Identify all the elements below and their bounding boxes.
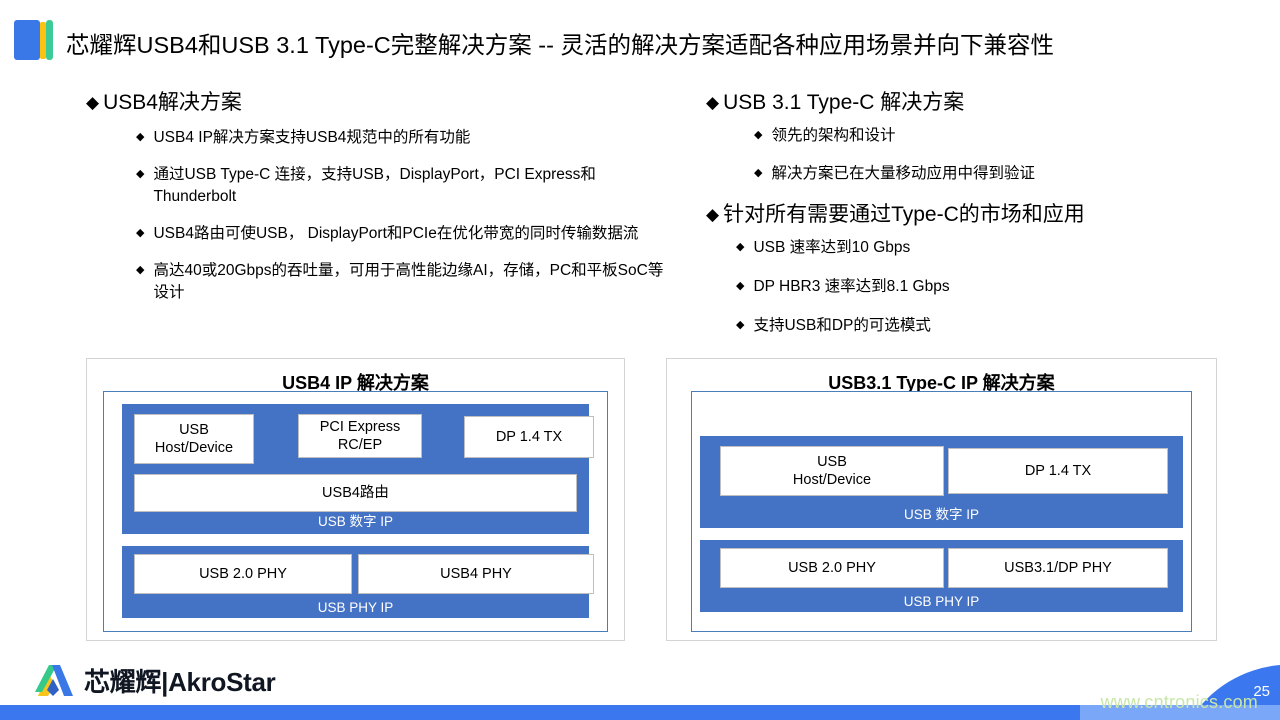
right-heading-1-label: USB 3.1 Type-C 解决方案 (723, 90, 1236, 117)
right-heading-2-label: 针对所有需要通过Type-C的市场和应用 (723, 202, 1236, 229)
diamond-bullet-icon: ◆ (706, 202, 719, 228)
right-content-column: ◆ USB 3.1 Type-C 解决方案 ◆ 领先的架构和设计 ◆ 解决方案已… (706, 90, 1236, 355)
logo-bar-blue-icon (14, 20, 40, 60)
list-item-label: 通过USB Type-C 连接，支持USB，DisplayPort，PCI Ex… (153, 164, 666, 207)
diagram-usb4: USB4 IP 解决方案 USB Host/Device PCI Express… (86, 358, 625, 641)
watermark-label: www.cntronics.com (1101, 692, 1258, 713)
slide-header: 芯耀辉USB4和USB 3.1 Type-C完整解决方案 -- 灵活的解决方案适… (0, 0, 1280, 72)
list-item-label: 高达40或20Gbps的吞吐量，可用于高性能边缘AI，存储，PC和平板SoC等设… (153, 260, 666, 303)
page-title: 芯耀辉USB4和USB 3.1 Type-C完整解决方案 -- 灵活的解决方案适… (66, 26, 1054, 60)
list-item: ◆ 支持USB和DP的可选模式 (736, 315, 1236, 336)
list-item: ◆ 通过USB Type-C 连接，支持USB，DisplayPort，PCI … (136, 164, 666, 207)
list-item-label: 解决方案已在大量移动应用中得到验证 (771, 163, 1236, 184)
diagram-usb31-typec: USB3.1 Type-C IP 解决方案 USB Host/Device DP… (666, 358, 1217, 641)
diamond-bullet-icon: ◆ (136, 223, 144, 243)
diamond-bullet-icon: ◆ (754, 125, 762, 145)
diamond-bullet-icon: ◆ (754, 163, 762, 183)
right-bullet-list-1: ◆ 领先的架构和设计 ◆ 解决方案已在大量移动应用中得到验证 (754, 125, 1236, 185)
usb4-cell-usb20phy: USB 2.0 PHY (134, 554, 352, 594)
usb31-digital-ip-label: USB 数字 IP (700, 503, 1183, 523)
list-item: ◆ 高达40或20Gbps的吞吐量，可用于高性能边缘AI，存储，PC和平板SoC… (136, 260, 666, 303)
list-item-label: USB4路由可使USB， DisplayPort和PCIe在优化带宽的同时传输数… (153, 223, 666, 244)
list-item: ◆ USB4路由可使USB， DisplayPort和PCIe在优化带宽的同时传… (136, 223, 666, 244)
usb4-digital-ip-label: USB 数字 IP (122, 510, 589, 530)
diamond-bullet-icon: ◆ (86, 90, 99, 116)
right-bullet-list-2: ◆ USB 速率达到10 Gbps ◆ DP HBR3 速率达到8.1 Gbps… (736, 237, 1236, 337)
usb4-cell-pci-express: PCI Express RC/EP (298, 414, 422, 458)
usb4-cell-usb-host-device: USB Host/Device (134, 414, 254, 464)
slide: 芯耀辉USB4和USB 3.1 Type-C完整解决方案 -- 灵活的解决方案适… (0, 0, 1280, 720)
diagram-usb31-frame: USB Host/Device DP 1.4 TX USB 数字 IP USB … (691, 391, 1192, 632)
diamond-bullet-icon: ◆ (136, 164, 144, 184)
diagram-usb4-frame: USB Host/Device PCI Express RC/EP DP 1.4… (103, 391, 608, 632)
list-item-label: 支持USB和DP的可选模式 (753, 315, 1236, 336)
usb4-cell-dp14tx: DP 1.4 TX (464, 416, 594, 458)
list-item-label: 领先的架构和设计 (771, 125, 1236, 146)
usb31-cell-dp14tx: DP 1.4 TX (948, 448, 1168, 494)
list-item: ◆ DP HBR3 速率达到8.1 Gbps (736, 276, 1236, 297)
footer-bar (0, 705, 1080, 720)
usb31-phy-ip-label: USB PHY IP (700, 594, 1183, 609)
list-item-label: USB4 IP解决方案支持USB4规范中的所有功能 (153, 127, 666, 148)
list-item: ◆ USB4 IP解决方案支持USB4规范中的所有功能 (136, 127, 666, 148)
usb4-digital-ip-group: USB Host/Device PCI Express RC/EP DP 1.4… (122, 404, 589, 534)
footer-brand-logo: 芯耀辉|AkroStar (28, 660, 328, 702)
diamond-bullet-icon: ◆ (136, 260, 144, 280)
logo-bar-green-icon (46, 20, 53, 60)
left-bullet-list: ◆ USB4 IP解决方案支持USB4规范中的所有功能 ◆ 通过USB Type… (136, 127, 666, 303)
brand-logo-icon (14, 20, 54, 60)
footer-logo-label: 芯耀辉|AkroStar (84, 662, 276, 699)
left-content-column: ◆ USB4解决方案 ◆ USB4 IP解决方案支持USB4规范中的所有功能 ◆… (86, 90, 666, 319)
list-item: ◆ 解决方案已在大量移动应用中得到验证 (754, 163, 1236, 184)
diamond-bullet-icon: ◆ (736, 237, 744, 257)
usb4-phy-ip-label: USB PHY IP (122, 600, 589, 615)
usb31-cell-usb-host-device: USB Host/Device (720, 446, 944, 496)
left-heading: ◆ USB4解决方案 (86, 90, 666, 117)
left-heading-label: USB4解决方案 (103, 90, 666, 117)
usb4-cell-usb4phy: USB4 PHY (358, 554, 594, 594)
usb31-phy-ip-group: USB 2.0 PHY USB3.1/DP PHY USB PHY IP (700, 540, 1183, 612)
diamond-bullet-icon: ◆ (136, 127, 144, 147)
diamond-bullet-icon: ◆ (736, 276, 744, 296)
usb4-phy-ip-group: USB 2.0 PHY USB4 PHY USB PHY IP (122, 546, 589, 618)
usb31-cell-usb20phy: USB 2.0 PHY (720, 548, 944, 588)
usb31-digital-ip-group: USB Host/Device DP 1.4 TX USB 数字 IP (700, 436, 1183, 528)
list-item: ◆ 领先的架构和设计 (754, 125, 1236, 146)
page-number: 25 (1253, 683, 1270, 700)
right-heading-1: ◆ USB 3.1 Type-C 解决方案 (706, 90, 1236, 117)
diamond-bullet-icon: ◆ (706, 90, 719, 116)
right-heading-2: ◆ 针对所有需要通过Type-C的市场和应用 (706, 202, 1236, 229)
list-item-label: USB 速率达到10 Gbps (753, 237, 1236, 258)
akrostar-triangle-icon (28, 660, 78, 702)
usb4-cell-router: USB4路由 (134, 474, 577, 512)
usb31-cell-usb31dpphy: USB3.1/DP PHY (948, 548, 1168, 588)
diamond-bullet-icon: ◆ (736, 315, 744, 335)
list-item-label: DP HBR3 速率达到8.1 Gbps (753, 276, 1236, 297)
list-item: ◆ USB 速率达到10 Gbps (736, 237, 1236, 258)
